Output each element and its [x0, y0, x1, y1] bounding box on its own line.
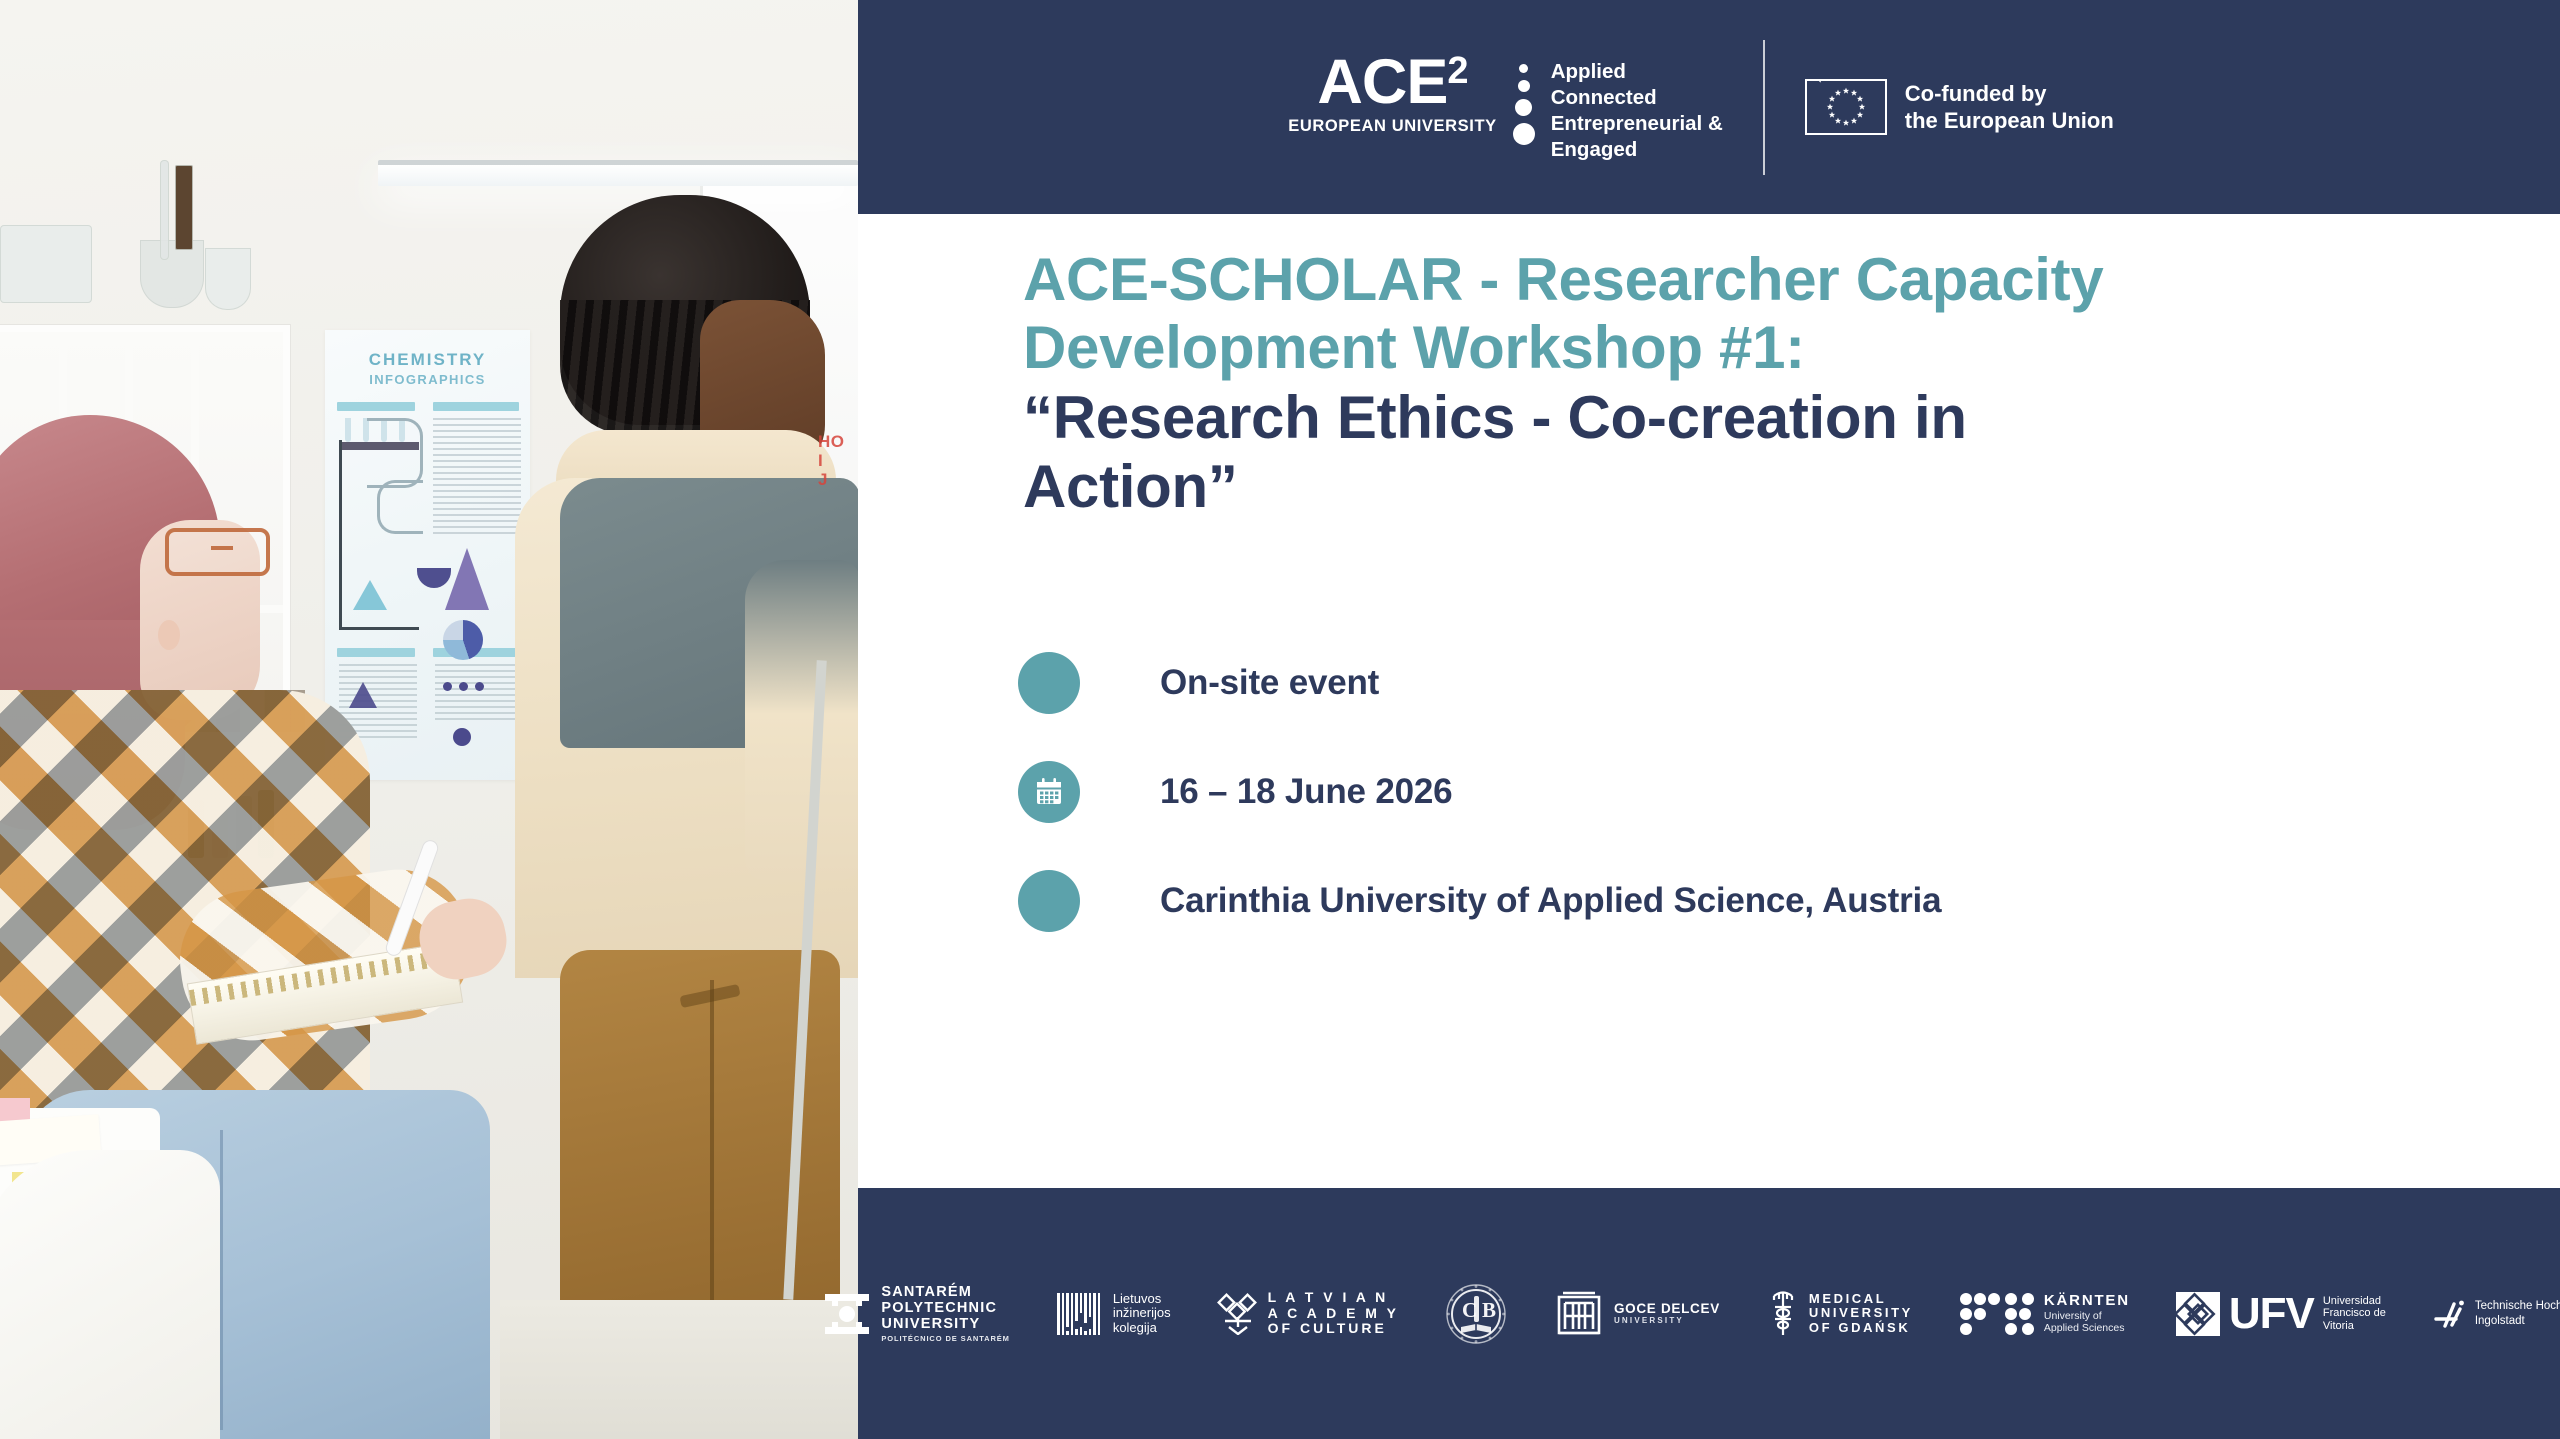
photo-person-standing-sleeve	[745, 560, 858, 880]
partner-lietuvos-line-2: kolegija	[1113, 1321, 1171, 1336]
partner-ufv-sub-3: Vitoria	[2323, 1320, 2386, 1332]
partner-logo-lietuvos: Lietuvos inžinerijos kolegija	[1056, 1291, 1171, 1337]
partner-ufv-wordmark: UFV	[2229, 1294, 2314, 1334]
content-panel: ACE2 EUROPEAN UNIVERSITY Applied Connect…	[858, 0, 2560, 1439]
partner-goce-sub: UNIVERSITY	[1614, 1317, 1720, 1326]
santarem-mark-icon	[822, 1291, 872, 1337]
photo-light-fixture	[378, 160, 858, 186]
eu-line-1: Co-funded by	[1905, 80, 2114, 107]
photo-glassware	[205, 248, 251, 310]
karnten-dots-icon	[1959, 1291, 2035, 1337]
event-location-text: Carinthia University of Applied Science,…	[1160, 881, 1941, 921]
cib-seal-icon: C B	[1445, 1283, 1507, 1345]
goce-delcev-building-icon	[1553, 1289, 1605, 1339]
ace2-dots-icon	[1513, 52, 1535, 145]
partner-ufv-sub-2: Francisco de	[2323, 1307, 2386, 1319]
ace2-values-list: Applied Connected Entrepreneurial & Enga…	[1551, 52, 1723, 162]
partner-ufv-sub-1: Universidad	[2323, 1295, 2386, 1307]
title-teal-line-1: ACE-SCHOLAR - Researcher Capacity	[1023, 246, 2443, 314]
chemistry-infographics-poster: CHEMISTRY INFOGRAPHICS	[325, 330, 530, 780]
partner-latvian-line-2: OF CULTURE	[1268, 1321, 1399, 1337]
eu-line-2: the European Union	[1905, 107, 2114, 134]
circle-icon	[1018, 870, 1080, 932]
photo-glassware	[140, 240, 204, 308]
partner-logo-santarem: SANTARÉM POLYTECHNIC UNIVERSITY POLITÉCN…	[822, 1284, 1009, 1343]
partner-latvian-line-0: L A T V I A N	[1268, 1290, 1399, 1306]
header-divider	[1763, 40, 1765, 175]
svg-text:B: B	[1482, 1298, 1496, 1322]
gdansk-staff-icon	[1766, 1289, 1800, 1339]
partner-karnten-sub-1: University of	[2044, 1310, 2130, 1322]
photo-person-seated-ear	[158, 620, 180, 650]
event-detail-format: On-site event	[1018, 629, 2458, 737]
partner-thi-sub-2: Ingolstadt	[2475, 1314, 2560, 1328]
photo-whiteboard-writing: HOIJ	[818, 432, 852, 492]
partner-logo-goce-delcev: GOCE DELCEV UNIVERSITY	[1553, 1289, 1720, 1339]
partner-logo-ufv: UFV Universidad Francisco de Vitoria	[2176, 1292, 2386, 1336]
partner-santarem-line-1: POLYTECHNIC	[881, 1300, 1009, 1316]
event-details-list: On-site event	[1018, 629, 2458, 955]
eu-cofunding-text: Co-funded by the European Union	[1905, 80, 2114, 134]
photo-floor	[500, 1300, 858, 1439]
partner-santarem-sub: POLITÉCNICO DE SANTARÉM	[881, 1335, 1009, 1343]
photo-glassware	[160, 160, 169, 260]
partner-latvian-line-1: A C A D E M Y	[1268, 1306, 1399, 1322]
ace2-superscript: 2	[1447, 52, 1467, 90]
partner-gdansk-line-0: MEDICAL	[1809, 1292, 1913, 1307]
circle-icon	[1018, 652, 1080, 714]
partner-logo-thi: Technische Hochschule Ingolstadt	[2432, 1297, 2560, 1331]
partner-santarem-line-2: UNIVERSITY	[881, 1316, 1009, 1332]
lietuvos-barcode-mark-icon	[1056, 1291, 1104, 1337]
partner-lietuvos-line-1: inžinerijos	[1113, 1306, 1171, 1321]
ace2-word: ACE	[1317, 52, 1447, 112]
latvian-tree-mark-icon	[1217, 1291, 1259, 1335]
partner-logos: SANTARÉM POLYTECHNIC UNIVERSITY POLITÉCN…	[858, 1188, 2560, 1439]
title-navy-line-1: “Research Ethics - Co-creation in	[1023, 384, 2443, 452]
ace2-value-3: Engaged	[1551, 138, 1723, 162]
poster-title-line1: CHEMISTRY	[325, 350, 530, 370]
ufv-weave-icon	[2176, 1292, 2220, 1336]
partner-gdansk-line-2: OF GDAŃSK	[1809, 1321, 1913, 1336]
ace2-wordmark: ACE2	[1317, 52, 1467, 112]
partner-logo-latvian-academy: L A T V I A N A C A D E M Y OF CULTURE	[1217, 1290, 1399, 1337]
ace2-value-1: Connected	[1551, 86, 1723, 110]
footer-bar: SANTARÉM POLYTECHNIC UNIVERSITY POLITÉCN…	[858, 1188, 2560, 1439]
calendar-icon	[1018, 761, 1080, 823]
event-detail-location: Carinthia University of Applied Science,…	[1018, 847, 2458, 955]
header-bar: ACE2 EUROPEAN UNIVERSITY Applied Connect…	[858, 0, 2560, 214]
photo-glassware	[175, 165, 193, 250]
poster-title-line2: INFOGRAPHICS	[325, 372, 530, 387]
photo-chair	[0, 1150, 220, 1439]
event-date-text: 16 – 18 June 2026	[1160, 772, 1452, 812]
photo-glassware	[0, 225, 92, 303]
content-body: ACE-SCHOLAR - Researcher Capacity Develo…	[858, 214, 2560, 1188]
partner-santarem-line-0: SANTARÉM	[881, 1284, 1009, 1300]
title-teal-line-2: Development Workshop #1:	[1023, 314, 2443, 382]
partner-logo-cib: C B	[1445, 1283, 1507, 1345]
eu-cofunding-logo: Co-funded by the European Union	[1805, 79, 2114, 135]
ace2-value-0: Applied	[1551, 60, 1723, 84]
partner-logo-karnten: KÄRNTEN University of Applied Sciences	[1959, 1291, 2130, 1337]
photo-person-seated-glasses	[165, 528, 270, 576]
partner-logo-gdansk: MEDICAL UNIVERSITY OF GDAŃSK	[1766, 1289, 1913, 1339]
classroom-photo: CHEMISTRY INFOGRAPHICS HOI	[0, 0, 858, 1439]
ace2-subline: EUROPEAN UNIVERSITY	[1288, 117, 1497, 136]
partner-karnten-sub-2: Applied Sciences	[2044, 1322, 2130, 1334]
ace2-value-2: Entrepreneurial &	[1551, 112, 1723, 136]
partner-lietuvos-line-0: Lietuvos	[1113, 1292, 1171, 1307]
title-navy-line-2: Action”	[1023, 453, 2443, 521]
ace2-logo: ACE2 EUROPEAN UNIVERSITY Applied Connect…	[1288, 52, 1723, 162]
thi-mark-icon	[2432, 1297, 2466, 1331]
partner-thi-sub-1: Technische Hochschule	[2475, 1299, 2560, 1313]
partner-goce-line-0: GOCE DELCEV	[1614, 1301, 1720, 1316]
eu-flag-icon	[1805, 79, 1887, 135]
event-format-text: On-site event	[1160, 663, 1379, 703]
event-banner: CHEMISTRY INFOGRAPHICS HOI	[0, 0, 2560, 1439]
event-detail-date: 16 – 18 June 2026	[1018, 738, 2458, 846]
partner-karnten-line-0: KÄRNTEN	[2044, 1293, 2130, 1310]
partner-gdansk-line-1: UNIVERSITY	[1809, 1306, 1913, 1321]
page-title: ACE-SCHOLAR - Researcher Capacity Develo…	[1023, 246, 2443, 521]
